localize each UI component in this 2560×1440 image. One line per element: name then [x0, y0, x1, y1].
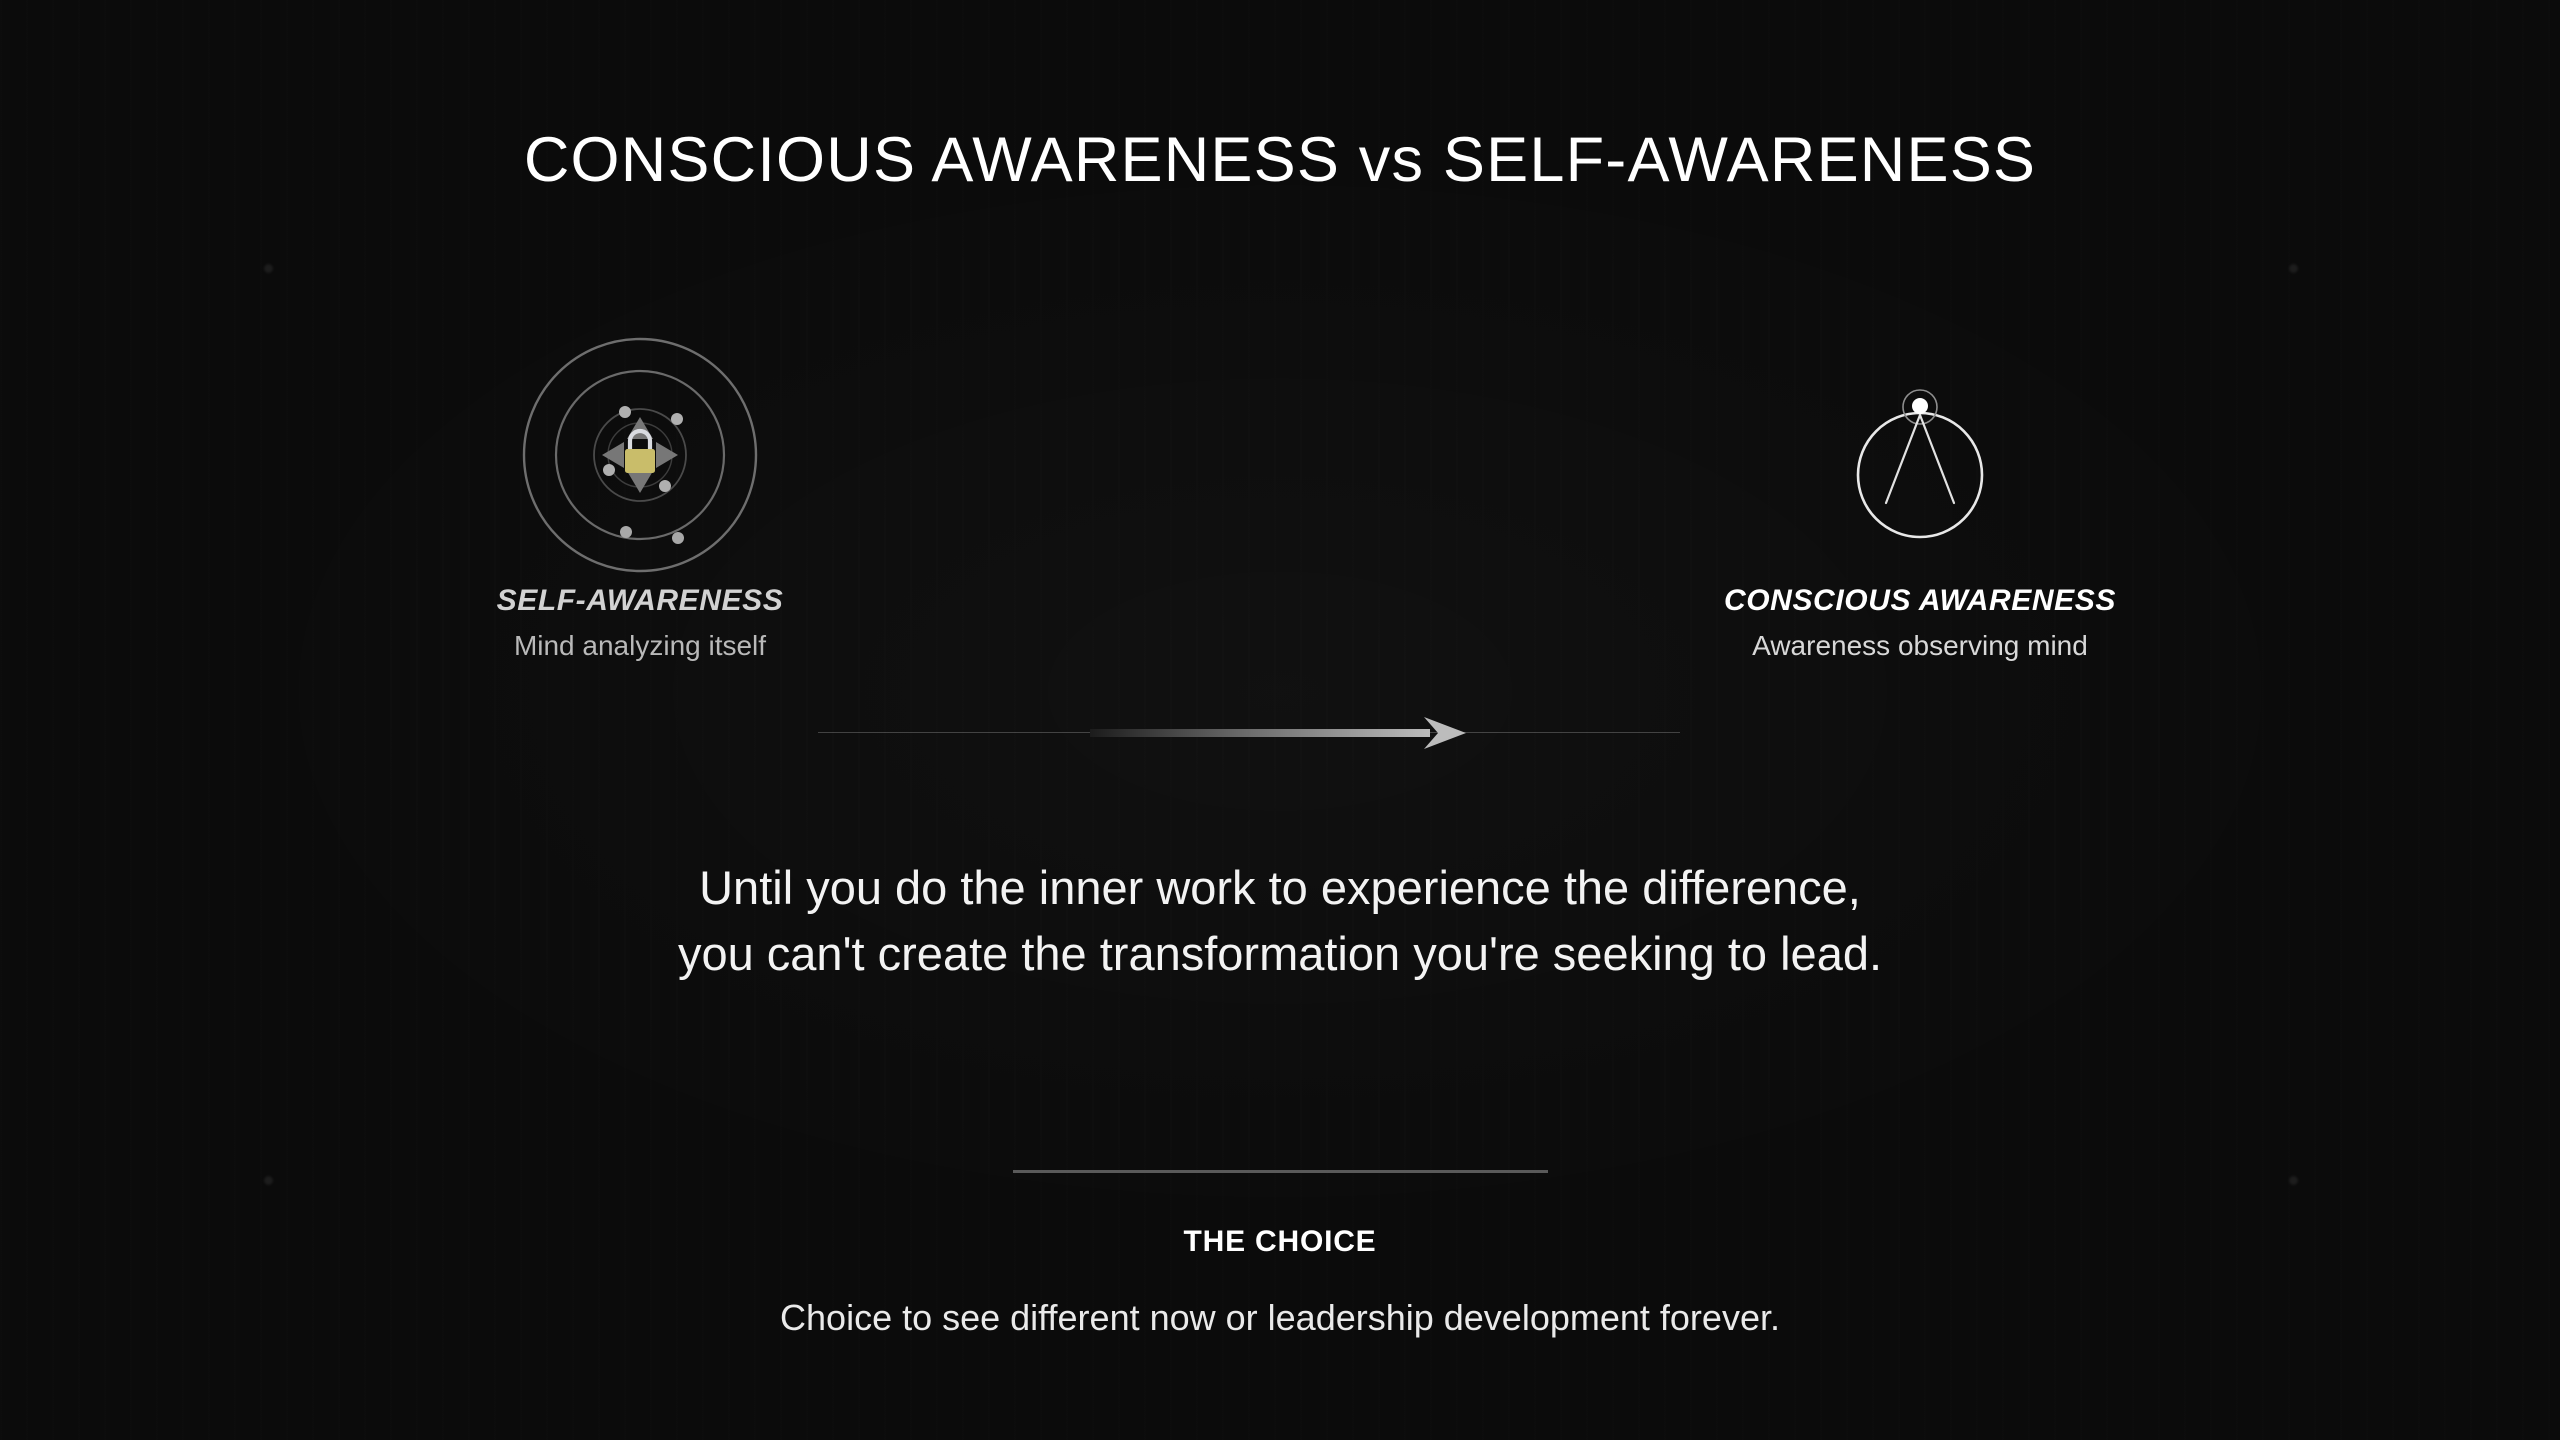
page-title: CONSCIOUS AWARENESS vs SELF-AWARENESS	[0, 124, 2560, 196]
self-awareness-subtitle: Mind analyzing itself	[260, 630, 1020, 662]
conscious-awareness-icon-wrap	[1540, 330, 2300, 580]
arrow-right-icon	[656, 442, 678, 468]
quote-line-1: Until you do the inner work to experienc…	[0, 855, 2560, 921]
self-awareness-icon-wrap	[260, 330, 1020, 580]
comparison-section: SELF-AWARENESS Mind analyzing itself CON…	[0, 330, 2560, 750]
quote-block: Until you do the inner work to experienc…	[0, 855, 2560, 987]
choice-divider	[1013, 1170, 1548, 1173]
orbit-dot-2	[672, 532, 684, 544]
conscious-awareness-title: CONSCIOUS AWARENESS	[1540, 584, 2300, 618]
observer-point-circle-icon	[1800, 335, 2040, 575]
pillar-conscious-awareness: CONSCIOUS AWARENESS Awareness observing …	[1540, 330, 2300, 662]
choice-block: THE CHOICE Choice to see different now o…	[0, 1170, 2560, 1339]
quote-line-2: you can't create the transformation you'…	[0, 921, 2560, 987]
orbit-dot-1	[620, 526, 632, 538]
choice-text: Choice to see different now or leadershi…	[0, 1297, 2560, 1339]
corner-dot-top-left	[264, 264, 273, 273]
connector	[818, 715, 1680, 751]
corner-dot-top-right	[2289, 264, 2298, 273]
arrow-left-icon	[602, 442, 624, 468]
pillar-self-awareness: SELF-AWARENESS Mind analyzing itself	[260, 330, 1020, 662]
arrow-down-icon	[627, 471, 653, 493]
locked-self-referential-circles-icon	[520, 335, 760, 575]
observer-point-icon	[1912, 398, 1928, 414]
rightward-gradient-arrow-icon	[1090, 715, 1472, 751]
conscious-awareness-subtitle: Awareness observing mind	[1540, 630, 2300, 662]
self-awareness-title: SELF-AWARENESS	[260, 584, 1020, 618]
choice-label: THE CHOICE	[0, 1225, 2560, 1259]
